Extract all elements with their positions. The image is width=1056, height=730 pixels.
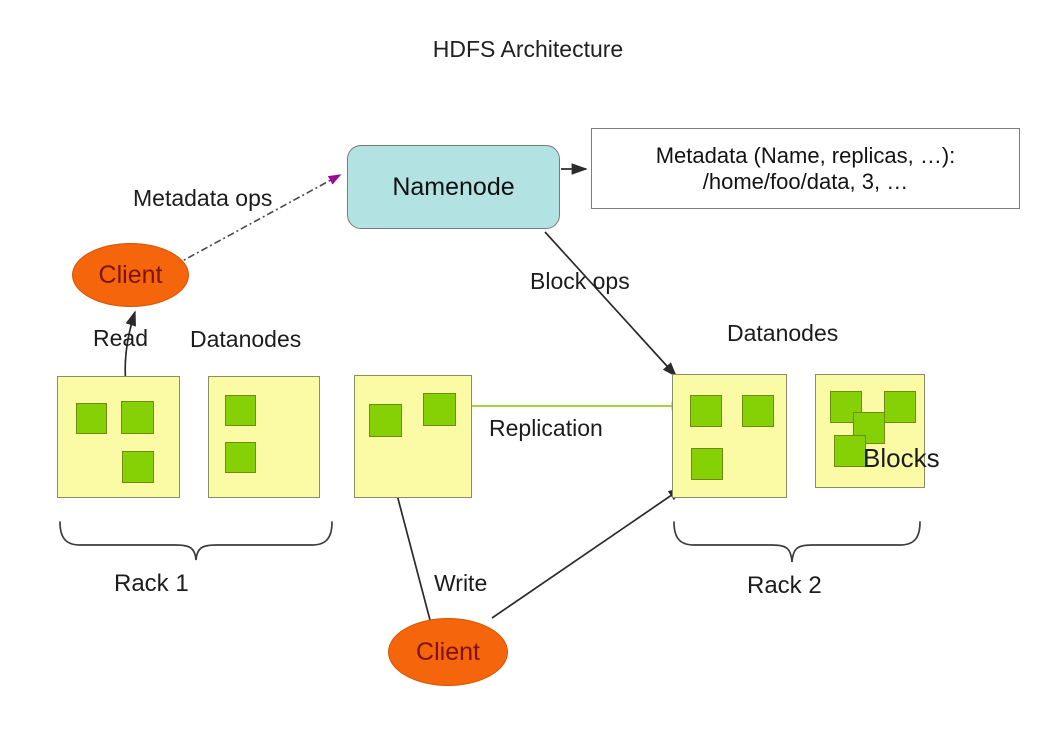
block: [690, 395, 722, 427]
block: [423, 393, 456, 426]
write-connector-datanode4: [492, 488, 682, 618]
block: [884, 391, 916, 423]
block: [76, 403, 107, 434]
read-label: Read: [93, 325, 148, 352]
datanodes-label-rack2: Datanodes: [727, 320, 838, 347]
block: [742, 395, 774, 427]
rack2-brace: [674, 522, 920, 562]
rack1-label: Rack 1: [114, 570, 189, 598]
namenode-label: Namenode: [392, 173, 514, 202]
block: [121, 401, 154, 434]
write-label: Write: [434, 570, 487, 597]
metadata-box: Metadata (Name, replicas, …): /home/foo/…: [591, 128, 1020, 209]
datanode-1[interactable]: [57, 376, 180, 498]
block-ops-label: Block ops: [530, 268, 630, 295]
metadata-line-1: Metadata (Name, replicas, …):: [656, 143, 956, 169]
client-node-top[interactable]: Client: [72, 243, 189, 307]
block: [225, 442, 256, 473]
rack2-label: Rack 2: [747, 572, 822, 600]
datanode-3[interactable]: [354, 375, 472, 498]
diagram-connectors-layer: [0, 0, 1056, 730]
client-bottom-label: Client: [416, 638, 480, 667]
block-ops-connector: [545, 232, 676, 376]
client-node-bottom[interactable]: Client: [388, 618, 508, 686]
client-top-label: Client: [99, 261, 163, 290]
metadata-line-2: /home/foo/data, 3, …: [703, 169, 908, 195]
replication-label: Replication: [489, 415, 603, 442]
blocks-label: Blocks: [863, 443, 940, 474]
block: [225, 395, 256, 426]
namenode-box[interactable]: Namenode: [347, 145, 560, 229]
block: [834, 435, 866, 467]
block: [369, 404, 402, 437]
metadata-ops-label: Metadata ops: [133, 185, 272, 212]
datanodes-label-rack1: Datanodes: [190, 326, 301, 353]
datanode-4[interactable]: [672, 374, 787, 498]
rack1-brace: [60, 522, 332, 560]
block: [691, 448, 723, 480]
datanode-2[interactable]: [208, 376, 320, 498]
hdfs-architecture-diagram: HDFS Architecture: [0, 0, 1056, 730]
block: [122, 451, 154, 483]
